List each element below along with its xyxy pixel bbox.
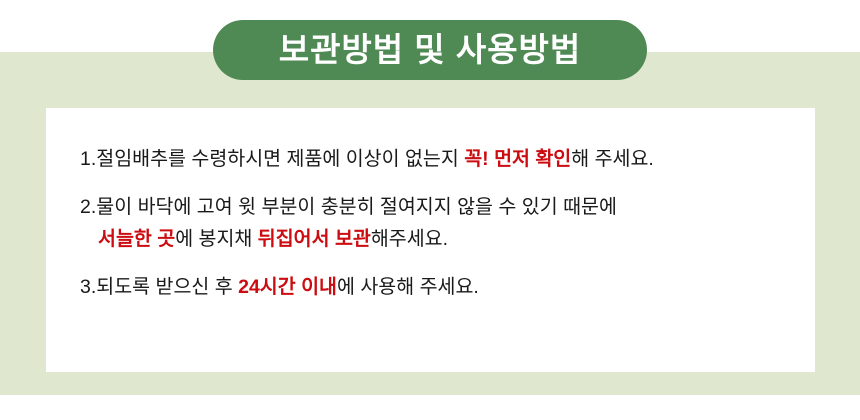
body-text: 에 봉지채 [175, 228, 258, 250]
instructions-card: 1.절임배추를 수령하시면 제품에 이상이 없는지 꼭! 먼저 확인해 주세요.… [46, 108, 815, 372]
instruction-number: 2. [80, 196, 96, 218]
emphasis-text: 24시간 이내 [238, 276, 337, 298]
section-title-banner: 보관방법 및 사용방법 [213, 20, 647, 80]
body-text: 물이 바닥에 고여 윗 부분이 충분히 절여지지 않을 수 있기 때문에 [96, 196, 617, 218]
emphasis-text: 뒤집어서 보관 [258, 228, 371, 250]
instruction-item: 1.절임배추를 수령하시면 제품에 이상이 없는지 꼭! 먼저 확인해 주세요. [80, 146, 805, 172]
body-text: 해 주세요. [571, 148, 654, 170]
instruction-item: 2.물이 바닥에 고여 윗 부분이 충분히 절여지지 않을 수 있기 때문에서늘… [80, 194, 805, 252]
page-title: 보관방법 및 사용방법 [279, 33, 582, 66]
body-text: 절임배추를 수령하시면 제품에 이상이 없는지 [96, 148, 464, 170]
instruction-list: 1.절임배추를 수령하시면 제품에 이상이 없는지 꼭! 먼저 확인해 주세요.… [80, 146, 805, 301]
instruction-line: 서늘한 곳에 봉지채 뒤집어서 보관해주세요. [80, 226, 805, 252]
body-text: 되도록 받으신 후 [96, 276, 238, 298]
instruction-line: 1.절임배추를 수령하시면 제품에 이상이 없는지 꼭! 먼저 확인해 주세요. [80, 146, 805, 172]
instruction-line: 2.물이 바닥에 고여 윗 부분이 충분히 절여지지 않을 수 있기 때문에 [80, 194, 805, 220]
body-text: 해주세요. [371, 228, 448, 250]
instruction-number: 1. [80, 148, 96, 170]
body-text: 에 사용해 주세요. [337, 276, 479, 298]
emphasis-text: 꼭! 먼저 확인 [464, 148, 571, 170]
instruction-item: 3.되도록 받으신 후 24시간 이내에 사용해 주세요. [80, 274, 805, 300]
instruction-number: 3. [80, 276, 96, 298]
instruction-line: 3.되도록 받으신 후 24시간 이내에 사용해 주세요. [80, 274, 805, 300]
emphasis-text: 서늘한 곳 [98, 228, 175, 250]
